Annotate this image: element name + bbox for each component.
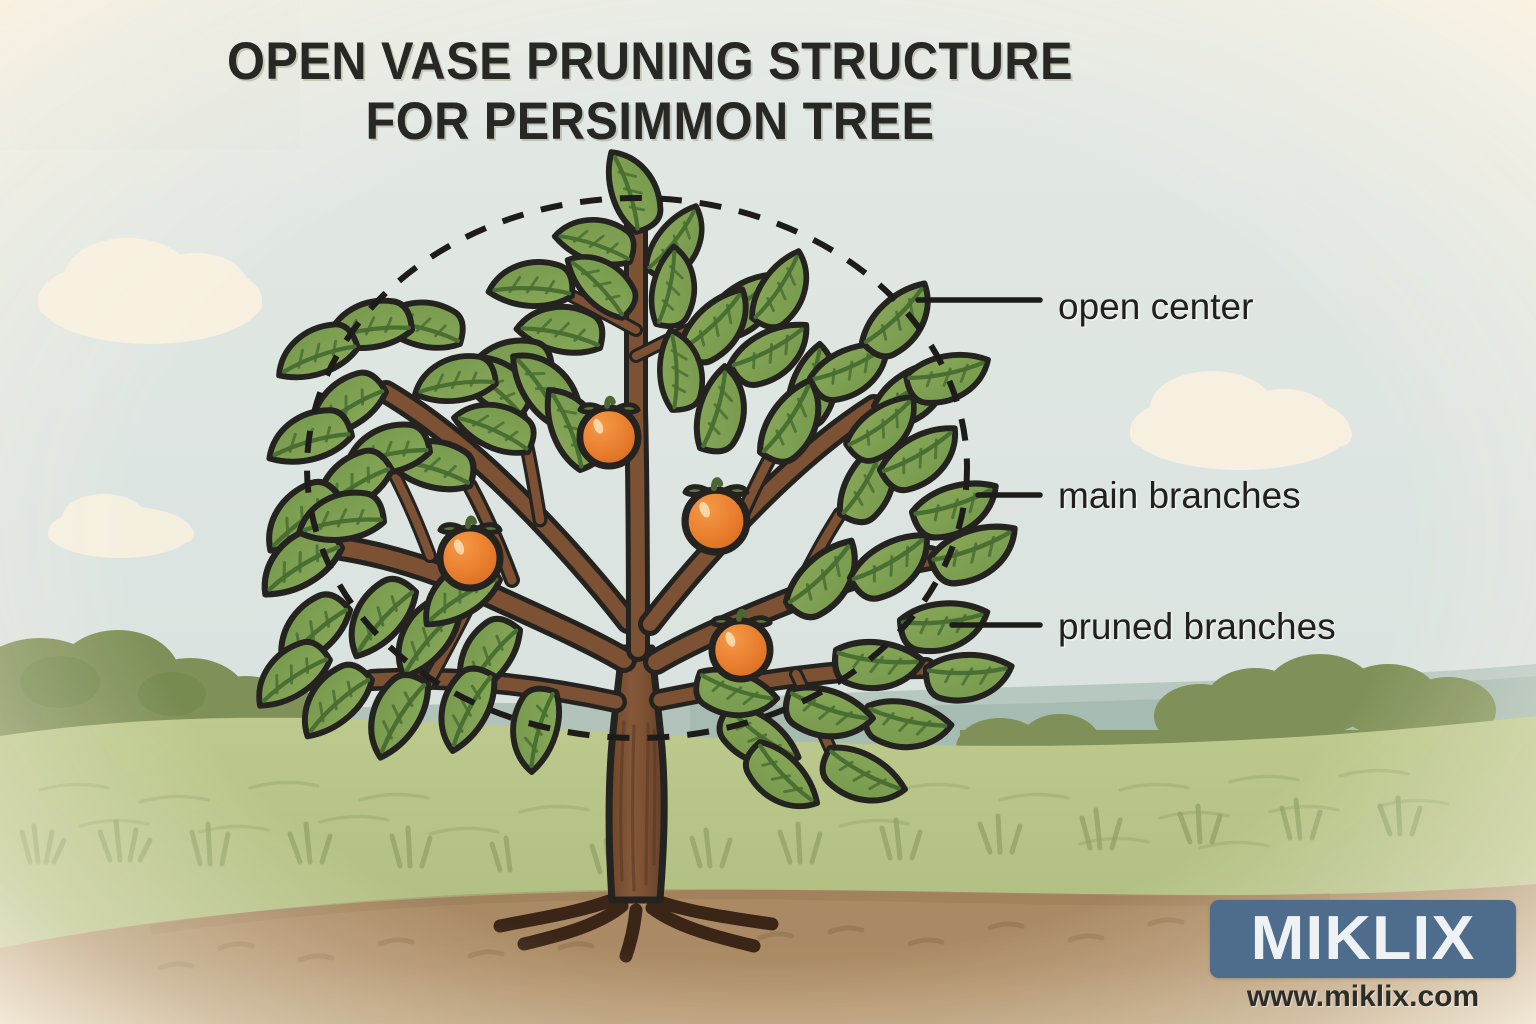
miklix-website-url: www.miklix.com xyxy=(1210,980,1516,1014)
callout-label-pruned-branches: pruned branches xyxy=(1058,606,1336,648)
persimmon-tree-scene xyxy=(0,0,1536,1024)
fruit xyxy=(580,399,638,466)
fruit xyxy=(440,519,500,588)
illustration-canvas: OPEN VASE PRUNING STRUCTURE FOR PERSIMMO… xyxy=(0,0,1536,1024)
callout-label-open-center: open center xyxy=(1058,286,1253,328)
miklix-logo-badge: MIKLIX xyxy=(1210,900,1516,978)
miklix-logo-text: MIKLIX xyxy=(1251,908,1476,970)
callout-label-main-branches: main branches xyxy=(1058,475,1301,517)
fruit xyxy=(685,480,747,552)
fruit xyxy=(712,612,770,679)
